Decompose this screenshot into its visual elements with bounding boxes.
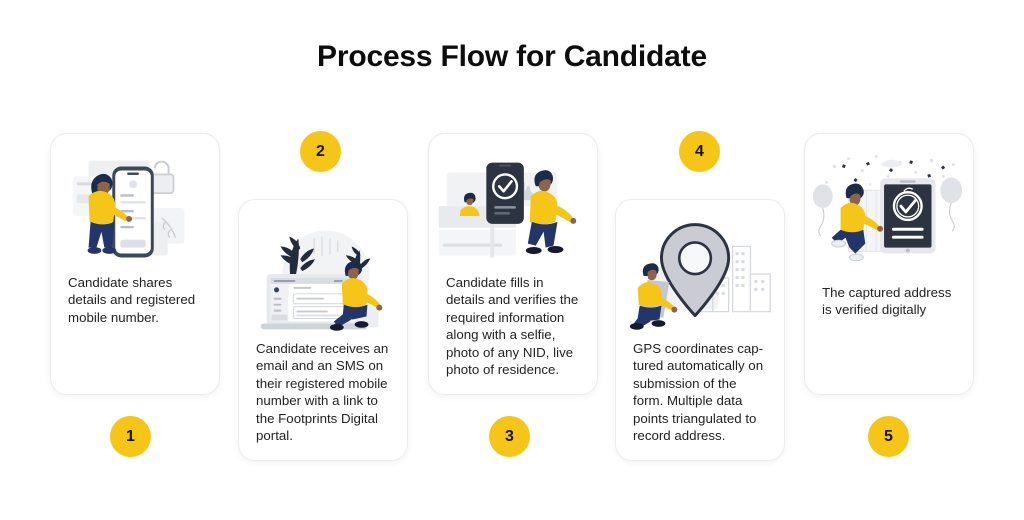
person-sitting-by-laptop-email-icon bbox=[239, 214, 407, 342]
step-badge-5[interactable]: 5 bbox=[868, 416, 909, 457]
step-badge-3[interactable]: 3 bbox=[489, 416, 530, 457]
step-badge-1[interactable]: 1 bbox=[110, 416, 151, 457]
step-card-1[interactable]: Candidate shares details and registered … bbox=[50, 133, 220, 395]
step-badge-2[interactable]: 2 bbox=[300, 131, 341, 172]
step-card-2[interactable]: Candidate receives an email and an SMS o… bbox=[238, 199, 408, 461]
person-celebrating-tablet-verified-balloons-icon bbox=[805, 148, 973, 276]
step-badge-4-number: 4 bbox=[695, 143, 704, 161]
map-pin-gps-city-person-icon bbox=[616, 214, 784, 342]
step-card-1-text: Candidate shares details and registered … bbox=[68, 274, 205, 326]
step-badge-5-number: 5 bbox=[884, 428, 893, 446]
step-card-5-text: The captured address is verified digital… bbox=[822, 284, 959, 319]
person-pointing-at-phone-form-icon bbox=[51, 148, 219, 276]
step-card-2-text: Candidate receives an email and an SMS o… bbox=[256, 340, 393, 444]
step-badge-1-number: 1 bbox=[126, 428, 135, 446]
step-card-4[interactable]: GPS coordinates cap-tured automatically … bbox=[615, 199, 785, 461]
step-card-3[interactable]: Candidate fills in details and verifies … bbox=[428, 133, 598, 395]
step-badge-4[interactable]: 4 bbox=[679, 131, 720, 172]
step-card-4-text: GPS coordinates cap-tured automatically … bbox=[633, 340, 770, 444]
step-badge-2-number: 2 bbox=[316, 143, 325, 161]
step-card-5[interactable]: The captured address is verified digital… bbox=[804, 133, 974, 395]
person-walking-phone-verified-check-icon bbox=[429, 148, 597, 276]
process-flow-infographic: Process Flow for Candidate bbox=[0, 0, 1024, 520]
page-title: Process Flow for Candidate bbox=[0, 40, 1024, 74]
step-card-3-text: Candidate fills in details and verifies … bbox=[446, 274, 583, 378]
step-badge-3-number: 3 bbox=[505, 428, 514, 446]
